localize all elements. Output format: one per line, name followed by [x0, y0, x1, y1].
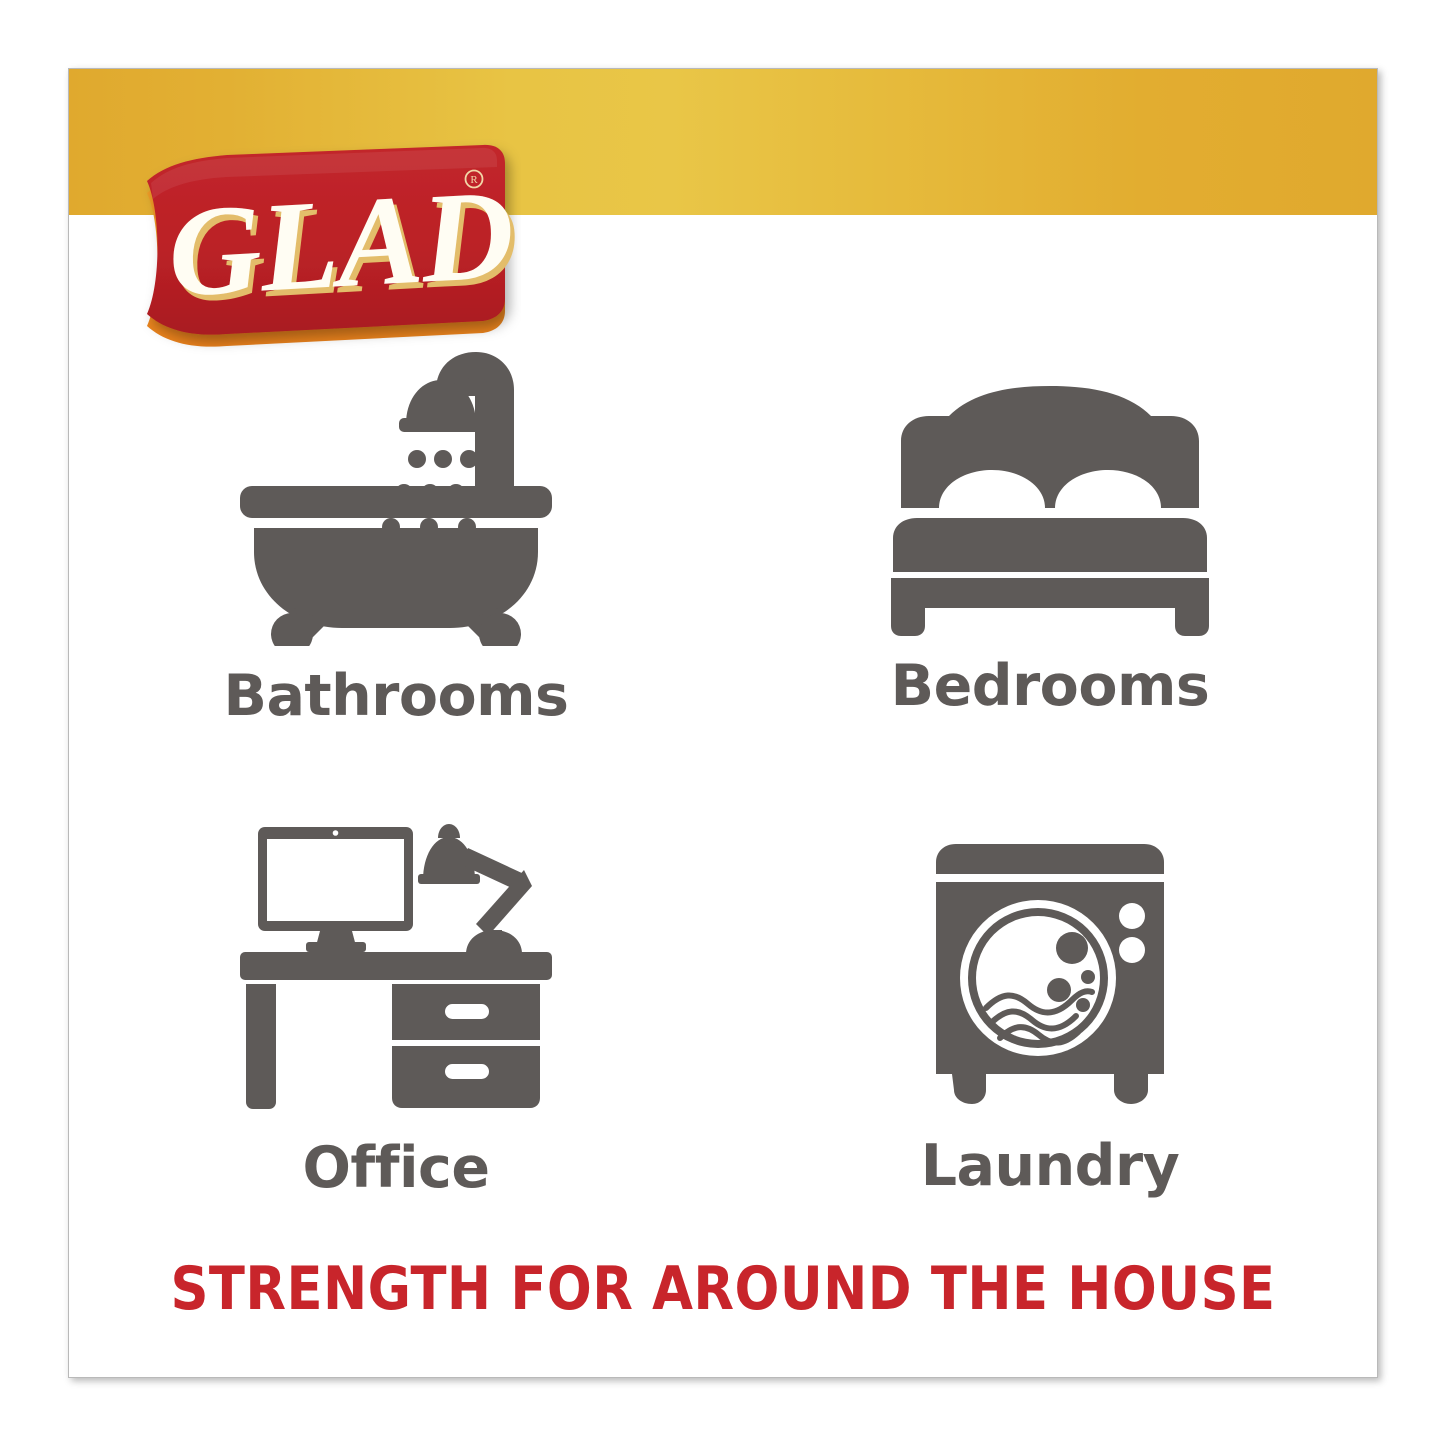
room-label-office: Office: [302, 1140, 489, 1197]
headline-strength-for-around-the-house: STRENGTH FOR AROUND THE HOUSE: [147, 1259, 1298, 1319]
bathtub-shower-icon: [236, 346, 556, 646]
screenshot-root: GLAD GLAD R: [0, 0, 1445, 1445]
room-label-bedrooms: Bedrooms: [891, 658, 1210, 715]
room-cell-bathrooms: Bathrooms: [69, 324, 723, 774]
washing-machine-icon: [928, 842, 1172, 1110]
room-label-laundry: Laundry: [921, 1138, 1180, 1195]
room-label-bathrooms: Bathrooms: [224, 668, 569, 725]
svg-text:GLAD: GLAD: [165, 163, 517, 324]
desk-monitor-lamp-icon: [240, 812, 552, 1110]
bed-icon: [891, 386, 1209, 636]
svg-text:R: R: [470, 174, 478, 186]
room-cell-laundry: Laundry: [723, 774, 1377, 1224]
room-cell-office: Office: [69, 774, 723, 1224]
room-cell-bedrooms: Bedrooms: [723, 324, 1377, 774]
room-icon-grid: Bathrooms: [69, 324, 1377, 1224]
product-feature-card: GLAD GLAD R: [68, 68, 1378, 1378]
